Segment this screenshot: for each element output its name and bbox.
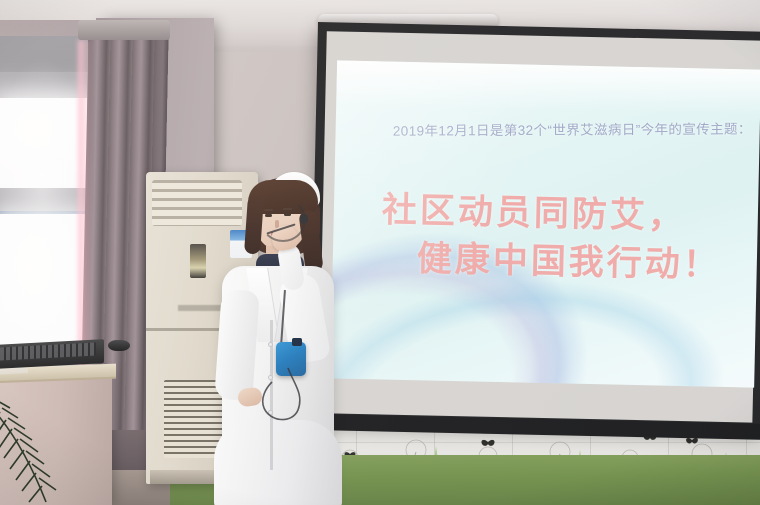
slide-header-text: 2019年12月1日是第32个“世界艾滋病日”今年的宣传主题： <box>348 117 752 139</box>
window-pane-upper <box>0 98 87 188</box>
curtain-rod <box>78 20 170 40</box>
headset-earpiece <box>300 214 308 224</box>
lecture-room-photo: 2019年12月1日是第32个“世界艾滋病日”今年的宣传主题： 社区动员同防艾，… <box>0 0 760 505</box>
coat-button <box>268 342 273 347</box>
coat-button <box>268 375 273 380</box>
projected-slide: 2019年12月1日是第32个“世界艾滋病日”今年的宣传主题： 社区动员同防艾，… <box>330 60 760 387</box>
amplifier-belt-clip <box>292 338 302 346</box>
window-pane-lower <box>0 214 87 359</box>
projection-screen[interactable]: 2019年12月1日是第32个“世界艾滋病日”今年的宣传主题： 社区动员同防艾，… <box>309 22 760 444</box>
air-conditioner-display-panel[interactable] <box>190 244 206 278</box>
presenter[interactable] <box>208 170 344 505</box>
presenter-arm-lowered <box>214 289 260 401</box>
computer-mouse[interactable] <box>108 340 130 351</box>
slide-top-highlight <box>336 60 760 115</box>
presenter-coat-hem <box>214 420 342 505</box>
slide-slogan-line-2: 健康中国我行动！ <box>332 228 757 288</box>
portable-voice-amplifier[interactable] <box>276 342 306 376</box>
coat-button <box>268 410 273 415</box>
lectern-desk[interactable] <box>0 372 112 505</box>
